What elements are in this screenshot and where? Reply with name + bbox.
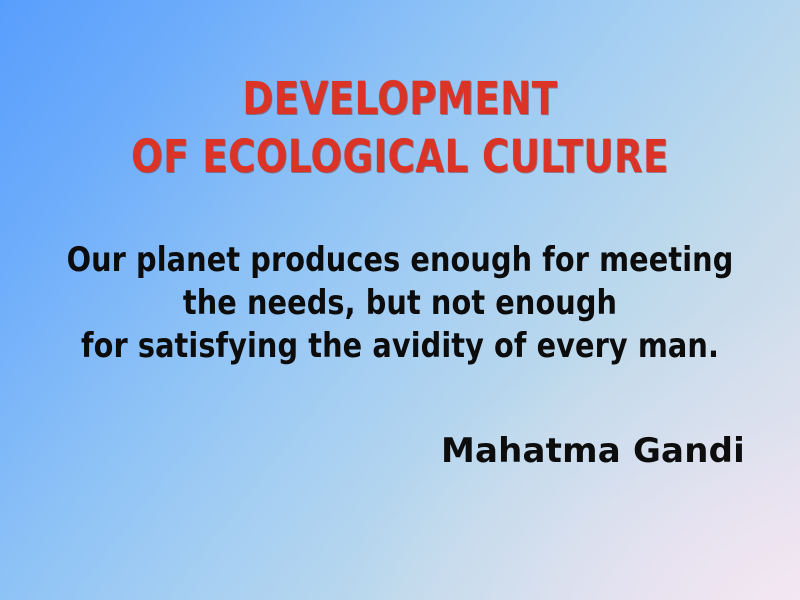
title-line-1: DEVELOPMENT [32, 70, 768, 128]
quote-line-3: for satisfying the avidity of every man. [24, 325, 776, 368]
attribution-name: Mahatma Gandi [441, 430, 745, 472]
title-line-2: OF ECOLOGICAL CULTURE [32, 128, 768, 186]
quote-line-1: Our planet produces enough for meeting [24, 239, 776, 282]
quote-line-2: the needs, but not enough [24, 282, 776, 325]
presentation-slide: DEVELOPMENT OF ECOLOGICAL CULTURE Our pl… [0, 0, 800, 600]
quote-text: Our planet produces enough for meeting t… [0, 239, 800, 368]
quote-attribution: Mahatma Gandi [0, 430, 745, 472]
slide-title: DEVELOPMENT OF ECOLOGICAL CULTURE [0, 70, 800, 186]
slide-canvas: DEVELOPMENT OF ECOLOGICAL CULTURE Our pl… [0, 0, 800, 600]
